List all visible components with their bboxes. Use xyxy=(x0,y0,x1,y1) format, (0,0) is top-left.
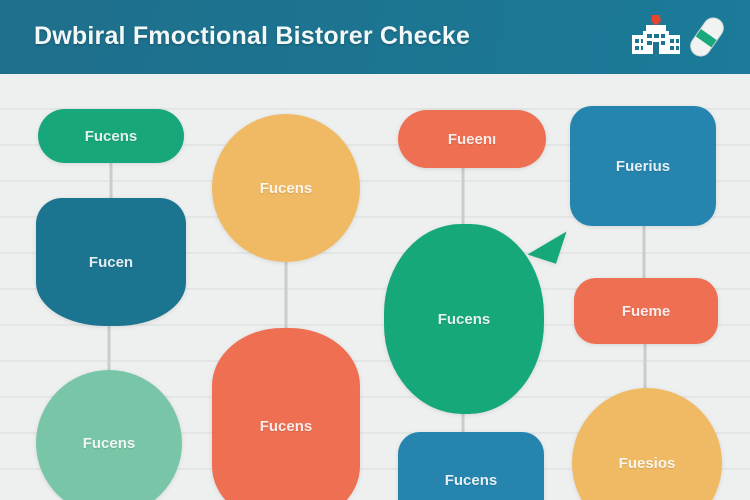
node-label: Fucens xyxy=(445,472,498,489)
node-n10[interactable]: Fucens xyxy=(398,432,544,500)
node-label: Fucen xyxy=(89,254,133,271)
node-label: Fuesios xyxy=(619,455,676,472)
node-n2[interactable]: Fucen xyxy=(36,198,186,326)
node-label: Fucens xyxy=(83,435,136,452)
node-label: Fueme xyxy=(622,303,670,320)
page-title: Dwbiral Fmoctional Bistorer Checke xyxy=(34,22,470,51)
node-n6[interactable]: Fucens xyxy=(384,224,544,414)
node-n4[interactable]: Fueenı xyxy=(398,110,546,168)
app-header: Dwbiral Fmoctional Bistorer Checke xyxy=(0,0,750,74)
header-icon-group xyxy=(630,8,724,66)
node-n9[interactable]: Fucens xyxy=(212,328,360,500)
node-label: Fucens xyxy=(260,418,313,435)
flowchart-app: Dwbiral Fmoctional Bistorer Checke xyxy=(0,0,750,500)
hospital-icon xyxy=(630,15,682,59)
pill-icon xyxy=(690,14,724,60)
node-n7[interactable]: Fueme xyxy=(574,278,718,344)
node-label: Fuerius xyxy=(616,158,670,175)
node-label: Fucens xyxy=(85,128,138,145)
node-label: Fucens xyxy=(260,180,313,197)
node-n3[interactable]: Fucens xyxy=(212,114,360,262)
node-label: Fueenı xyxy=(448,131,496,148)
node-n1[interactable]: Fucens xyxy=(38,109,184,163)
diagram-canvas: FucensFucenFucensFueenıFueriusFucensFuem… xyxy=(0,74,750,500)
node-label: Fucens xyxy=(438,311,491,328)
node-n5[interactable]: Fuerius xyxy=(570,106,716,226)
